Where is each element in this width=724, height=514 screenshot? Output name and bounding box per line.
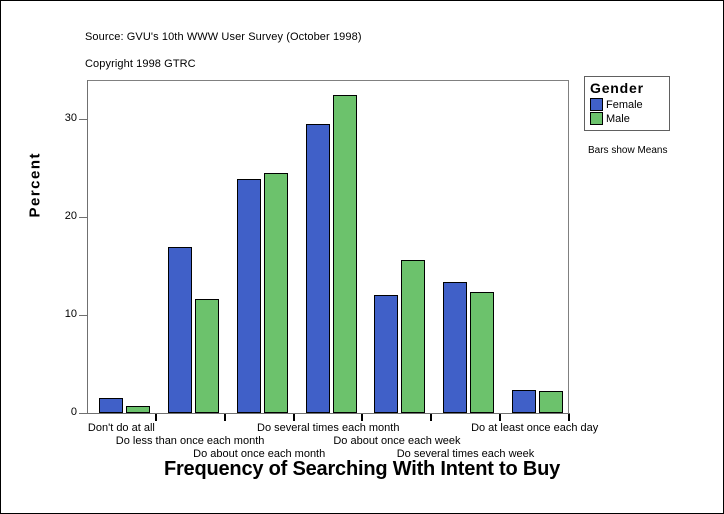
y-tick [79, 217, 87, 218]
x-axis-label-0: Don't do at all [88, 422, 155, 434]
x-axis-line [87, 413, 570, 414]
y-tick [79, 119, 87, 120]
x-axis-label-4: Do about once each week [333, 435, 460, 447]
y-axis-line [87, 80, 88, 414]
y-tick [79, 315, 87, 316]
x-axis-label-6: Do at least once each day [471, 422, 598, 434]
plot-area [87, 80, 569, 414]
bar-male-1 [195, 299, 219, 413]
legend-item-female: Female [590, 98, 664, 111]
x-tick [499, 414, 501, 421]
x-tick [293, 414, 295, 421]
bar-female-3 [306, 124, 330, 413]
legend-title: Gender [590, 80, 664, 96]
bar-male-5 [470, 292, 494, 413]
bar-female-1 [168, 247, 192, 414]
bar-female-6 [512, 390, 536, 414]
x-axis-label-3: Do several times each month [257, 422, 399, 434]
bar-male-6 [539, 391, 563, 413]
legend-swatch-male-icon [590, 112, 603, 125]
chart-container: Source: GVU's 10th WWW User Survey (Octo… [0, 0, 724, 514]
legend-label-female: Female [606, 99, 643, 111]
bar-female-0 [99, 398, 123, 413]
bar-female-2 [237, 179, 261, 413]
bar-female-4 [374, 295, 398, 413]
legend-label-male: Male [606, 113, 630, 125]
y-tick-label: 30 [53, 112, 77, 124]
x-tick [430, 414, 432, 421]
y-axis-title: Percent [27, 194, 44, 218]
bars-layer [88, 81, 568, 413]
bar-male-4 [401, 260, 425, 413]
bars-show-means-note: Bars show Means [588, 145, 667, 156]
legend-item-male: Male [590, 112, 664, 125]
x-axis-title: Frequency of Searching With Intent to Bu… [1, 458, 723, 481]
copyright-note: Copyright 1998 GTRC [85, 58, 196, 70]
legend-swatch-female-icon [590, 98, 603, 111]
y-tick-label: 20 [53, 210, 77, 222]
source-note: Source: GVU's 10th WWW User Survey (Octo… [85, 31, 362, 43]
x-tick [224, 414, 226, 421]
bar-male-0 [126, 406, 150, 413]
bar-female-5 [443, 282, 467, 413]
bar-male-3 [333, 95, 357, 413]
legend: Gender Female Male [584, 76, 670, 131]
x-tick [155, 414, 157, 421]
y-tick-label: 0 [53, 406, 77, 418]
y-tick-label: 10 [53, 308, 77, 320]
x-axis-label-1: Do less than once each month [116, 435, 265, 447]
bar-male-2 [264, 173, 288, 413]
x-tick [568, 414, 570, 421]
y-tick [79, 413, 87, 414]
x-tick [361, 414, 363, 421]
